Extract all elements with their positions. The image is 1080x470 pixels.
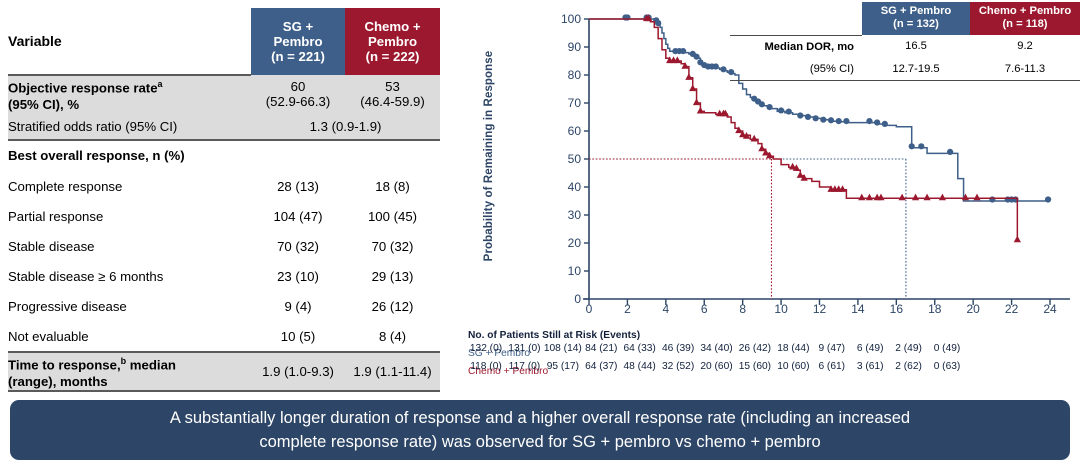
censor-marker	[813, 115, 819, 121]
row-label-best-overall-response: Best overall response, n (%)	[8, 140, 251, 171]
orr-label-line2: (95% CI), %	[8, 97, 79, 112]
censor-marker	[693, 54, 699, 60]
inset-header-sg-line1: SG + Pembro	[862, 5, 970, 18]
header-variable: Variable	[8, 8, 251, 75]
row-label-complete-response: Complete response	[8, 171, 251, 201]
cell-empty-sg	[251, 140, 345, 171]
header-chemo-line1: Chemo +	[345, 19, 440, 34]
ttr-label-line1: Time to response,	[8, 358, 121, 373]
cell-progressive-disease-chemo: 26 (12)	[345, 291, 440, 321]
censor-marker	[758, 145, 765, 152]
censor-marker	[866, 194, 873, 201]
inset-header-sg-line2: (n = 132)	[862, 18, 970, 31]
censor-marker	[655, 20, 661, 26]
inset-header-chemo-line1: Chemo + Pembro	[970, 5, 1080, 18]
censor-marker	[685, 73, 692, 80]
row-label-objective-response-rate: Objective response ratea (95% CI), %	[8, 75, 251, 113]
row-label-partial-response: Partial response	[8, 201, 251, 231]
table-row: Progressive disease 9 (4) 26 (12)	[8, 291, 440, 321]
header-sg-line1: SG +	[251, 19, 345, 34]
risk-cell: 0 (63)	[919, 361, 975, 372]
censor-marker	[713, 63, 719, 69]
censor-marker	[973, 194, 980, 201]
inset-row-ci: (95% CI) 12.7-19.5 7.6-11.3	[730, 58, 1080, 81]
risk-row: SG + Pembro132 (0)131 (0)108 (14)84 (21)…	[468, 343, 1080, 359]
ttr-label-line1b: median	[126, 358, 176, 373]
censor-marker	[693, 98, 700, 105]
censor-marker	[681, 62, 688, 69]
censor-marker	[909, 143, 915, 149]
table-row: Best overall response, n (%)	[8, 140, 440, 171]
censor-marker	[820, 117, 826, 123]
header-chemo-line3: (n = 222)	[345, 49, 440, 64]
header-sg-pembro: SG + Pembro (n = 221)	[251, 8, 345, 75]
censor-marker	[836, 118, 842, 124]
table-header-row: Variable SG + Pembro (n = 221) Chemo + P…	[8, 8, 440, 75]
censor-marker	[805, 114, 811, 120]
censor-marker	[680, 48, 686, 54]
inset-header-row: SG + Pembro (n = 132) Chemo + Pembro (n …	[730, 2, 1080, 35]
cell-complete-response-chemo: 18 (8)	[345, 171, 440, 201]
censor-marker	[697, 107, 704, 114]
orr-label-line1: Objective response rate	[8, 81, 158, 96]
table-row: Objective response ratea (95% CI), % 60 …	[8, 75, 440, 113]
inset-header-blank	[730, 2, 862, 35]
inset-ci-chemo: 7.6-11.3	[970, 58, 1080, 81]
censor-marker	[939, 194, 946, 201]
cell-empty-chemo	[345, 140, 440, 171]
row-label-progressive-disease: Progressive disease	[8, 291, 251, 321]
ttr-label-line2: (range), months	[8, 374, 108, 389]
inset-row-median-dor: Median DOR, mo 16.5 9.2	[730, 35, 1080, 58]
censor-marker	[1014, 236, 1021, 243]
inset-header-chemo: Chemo + Pembro (n = 118)	[970, 2, 1080, 35]
response-summary-table: Variable SG + Pembro (n = 221) Chemo + P…	[8, 8, 440, 392]
censor-marker	[751, 135, 758, 142]
cell-partial-response-sg: 104 (47)	[251, 201, 345, 231]
inset-label-median-dor: Median DOR, mo	[730, 35, 862, 58]
table-row: Complete response 28 (13) 18 (8)	[8, 171, 440, 201]
risk-cell: 0 (49)	[919, 343, 975, 354]
censor-marker	[689, 84, 696, 91]
row-label-stratified-odds-ratio: Stratified odds ratio (95% CI)	[8, 113, 251, 140]
cell-not-evaluable-sg: 10 (5)	[251, 321, 345, 352]
risk-row: Chemo + Pembro118 (0)117 (0)95 (17)64 (3…	[468, 361, 1080, 377]
censor-marker	[912, 194, 919, 201]
censor-marker	[874, 119, 880, 125]
numbers-at-risk-table: No. of Patients Still at Risk (Events) S…	[450, 330, 1080, 377]
table-row: Not evaluable 10 (5) 8 (4)	[8, 321, 440, 352]
cell-orr-chemo: 53 (46.4-59.9)	[345, 75, 440, 113]
cell-orr-chemo-value: 53	[345, 79, 440, 94]
cell-stable-disease-6mo-sg: 23 (10)	[251, 261, 345, 291]
table-row: Stratified odds ratio (95% CI) 1.3 (0.9-…	[8, 113, 440, 140]
risk-row-values: 118 (0)117 (0)95 (17)64 (37)48 (44)32 (5…	[552, 361, 1080, 374]
censor-marker	[735, 126, 742, 133]
censor-marker	[786, 108, 792, 114]
cell-stable-disease-6mo-chemo: 29 (13)	[345, 261, 440, 291]
row-label-stable-disease: Stable disease	[8, 231, 251, 261]
cell-stratified-odds-ratio-value: 1.3 (0.9-1.9)	[251, 113, 440, 140]
censor-marker	[858, 194, 865, 201]
censor-marker	[797, 112, 803, 118]
table-row: Stable disease 70 (32) 70 (32)	[8, 231, 440, 261]
footnote-marker-a: a	[158, 79, 163, 89]
censor-marker	[866, 118, 872, 124]
header-chemo-pembro: Chemo + Pembro (n = 222)	[345, 8, 440, 75]
header-sg-line2: Pembro	[251, 34, 345, 49]
censor-marker	[843, 118, 849, 124]
cell-orr-sg-ci: (52.9-66.3)	[251, 94, 345, 109]
banner-line2: complete response rate) was observed for…	[170, 430, 910, 454]
median-reference-lines	[589, 159, 906, 299]
cell-not-evaluable-chemo: 8 (4)	[345, 321, 440, 352]
cell-time-to-response-sg: 1.9 (1.0-9.3)	[251, 352, 345, 391]
table-row: Stable disease ≥ 6 months 23 (10) 29 (13…	[8, 261, 440, 291]
censor-marker	[947, 149, 953, 155]
risk-row-values: 132 (0)131 (0)108 (14)84 (21)64 (33)46 (…	[552, 343, 1080, 356]
summary-banner: A substantially longer duration of respo…	[10, 400, 1070, 460]
cell-progressive-disease-sg: 9 (4)	[251, 291, 345, 321]
cell-complete-response-sg: 28 (13)	[251, 171, 345, 201]
table-row: Time to response,b median (range), month…	[8, 352, 440, 391]
inset-label-ci: (95% CI)	[730, 58, 862, 81]
risk-table-rows: SG + Pembro132 (0)131 (0)108 (14)84 (21)…	[450, 343, 1080, 377]
censor-marker	[898, 194, 905, 201]
censor-marker	[828, 117, 834, 123]
cell-partial-response-chemo: 100 (45)	[345, 201, 440, 231]
table-row: Partial response 104 (47) 100 (45)	[8, 201, 440, 231]
cell-stable-disease-sg: 70 (32)	[251, 231, 345, 261]
header-sg-line3: (n = 221)	[251, 49, 345, 64]
banner-line1: A substantially longer duration of respo…	[170, 406, 910, 430]
cell-orr-chemo-ci: (46.4-59.9)	[345, 94, 440, 109]
cell-orr-sg: 60 (52.9-66.3)	[251, 75, 345, 113]
censor-marker	[759, 101, 765, 107]
cell-time-to-response-chemo: 1.9 (1.1-11.4)	[345, 352, 440, 391]
censor-marker	[778, 107, 784, 113]
censor-marker	[1045, 196, 1051, 202]
inset-ci-sg: 12.7-19.5	[862, 58, 970, 81]
inset-median-dor-sg: 16.5	[862, 35, 970, 58]
dor-kaplan-meier-chart: Probability of Remaining in Response 010…	[450, 0, 1080, 392]
risk-table-title: No. of Patients Still at Risk (Events)	[468, 330, 1080, 341]
cell-orr-sg-value: 60	[251, 79, 345, 94]
row-label-not-evaluable: Not evaluable	[8, 321, 251, 352]
censor-marker	[918, 143, 924, 149]
row-label-stable-disease-6mo: Stable disease ≥ 6 months	[8, 261, 251, 291]
inset-header-sg: SG + Pembro (n = 132)	[862, 2, 970, 35]
censor-marker	[923, 194, 930, 201]
row-label-time-to-response: Time to response,b median (range), month…	[8, 352, 251, 391]
censor-marker	[720, 66, 726, 72]
inset-median-dor-chemo: 9.2	[970, 35, 1080, 58]
censor-marker	[882, 121, 888, 127]
censor-marker	[766, 104, 772, 110]
median-dor-inset-table: SG + Pembro (n = 132) Chemo + Pembro (n …	[730, 2, 1080, 81]
cell-stable-disease-chemo: 70 (32)	[345, 231, 440, 261]
censor-marker	[989, 196, 995, 202]
inset-header-chemo-line2: (n = 118)	[970, 18, 1080, 31]
header-chemo-line2: Pembro	[345, 34, 440, 49]
